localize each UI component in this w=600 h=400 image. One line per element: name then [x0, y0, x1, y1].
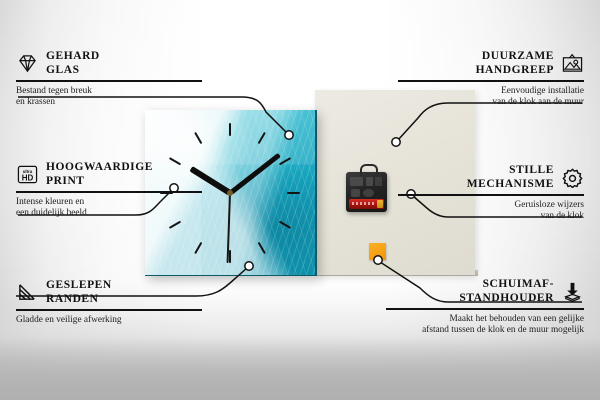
movement-dial [363, 189, 374, 197]
callout-title-line2: HANDGREEP [476, 64, 554, 78]
movement-slot-b [366, 177, 373, 186]
callout-title-line1: HOOGWAARDIGE [46, 161, 153, 175]
callout-desc-line1: Bestand tegen breuk [16, 86, 216, 97]
battery-label [352, 202, 374, 205]
callout-rule [16, 80, 202, 82]
svg-text:HD: HD [22, 173, 34, 182]
foam-spacer-pad [369, 243, 386, 260]
callout-header: SCHUIMAF- STANDHOUDER [372, 278, 584, 305]
callout-desc-line1: Maakt het behouden van een gelijke [372, 314, 584, 325]
callout-header: GEHARD GLAS [16, 50, 216, 77]
diamond-icon [16, 53, 39, 74]
foam-spacer-icon [561, 281, 584, 302]
callout-desc-line2: van de klok aan de muur [384, 97, 584, 108]
callout-hoogwaardige-print: ultra HD HOOGWAARDIGE PRINT Intense kleu… [16, 161, 216, 219]
callout-title-line1: GEHARD [46, 50, 100, 64]
hanger-loop [360, 164, 378, 176]
callout-header: ultra HD HOOGWAARDIGE PRINT [16, 161, 216, 188]
callout-header: DUURZAME HANDGREEP [384, 50, 584, 77]
ultra-hd-icon: ultra HD [16, 164, 39, 185]
callout-desc-line1: Gladde en veilige afwerking [16, 315, 216, 326]
callout-desc-line2: een duidelijk beeld [16, 208, 216, 219]
callout-rule [398, 194, 584, 196]
battery-terminal [377, 200, 383, 208]
callout-title-line1: DUURZAME [476, 50, 554, 64]
callout-desc-line1: Intense kleuren en [16, 197, 216, 208]
movement-slot-a [350, 177, 363, 186]
callout-gehard-glas: GEHARD GLAS Bestand tegen breuk en krass… [16, 50, 216, 108]
callout-title-line1: GESLEPEN [46, 279, 112, 293]
callout-title-line1: STILLE [467, 164, 554, 178]
callout-duurzame-handgreep: DUURZAME HANDGREEP Eenvoudige installati… [384, 50, 584, 108]
callout-desc-line2: van de klok [384, 211, 584, 222]
callout-title-line2: STANDHOUDER [459, 292, 554, 306]
callout-title-line2: MECHANISME [467, 178, 554, 192]
beveled-edges-icon [16, 282, 39, 303]
hands-center-cap [227, 190, 233, 196]
callout-desc-line2: afstand tussen de klok en de muur mogeli… [372, 325, 584, 336]
callout-desc-line1: Geruisloze wijzers [384, 200, 584, 211]
callout-rule [386, 308, 584, 310]
infographic-canvas: GEHARD GLAS Bestand tegen breuk en krass… [0, 0, 600, 400]
hour-tick [229, 123, 231, 136]
movement-knob [351, 189, 360, 197]
clock-movement-mechanism [346, 172, 387, 212]
callout-title-line1: SCHUIMAF- [459, 278, 554, 292]
callout-desc-line1: Eenvoudige installatie [384, 86, 584, 97]
callout-title-line2: RANDEN [46, 293, 112, 307]
hour-tick [229, 250, 231, 263]
picture-frame-icon [561, 53, 584, 74]
hour-tick [287, 192, 300, 194]
callout-title-line2: GLAS [46, 64, 100, 78]
callout-desc-line2: en krassen [16, 97, 216, 108]
callout-rule [16, 309, 202, 311]
callout-stille-mechanisme: STILLE MECHANISME Geruisloze wijzers van… [384, 164, 584, 222]
callout-header: STILLE MECHANISME [384, 164, 584, 191]
gear-icon [561, 167, 584, 188]
callout-header: GESLEPEN RANDEN [16, 279, 216, 306]
callout-title-line2: PRINT [46, 175, 153, 189]
callout-rule [16, 191, 202, 193]
movement-slot-c [375, 177, 382, 186]
callout-geslepen-randen: GESLEPEN RANDEN Gladde en veilige afwerk… [16, 279, 216, 326]
callout-schuimaf-standhouder: SCHUIMAF- STANDHOUDER Maakt het behouden… [372, 278, 584, 336]
callout-rule [398, 80, 584, 82]
